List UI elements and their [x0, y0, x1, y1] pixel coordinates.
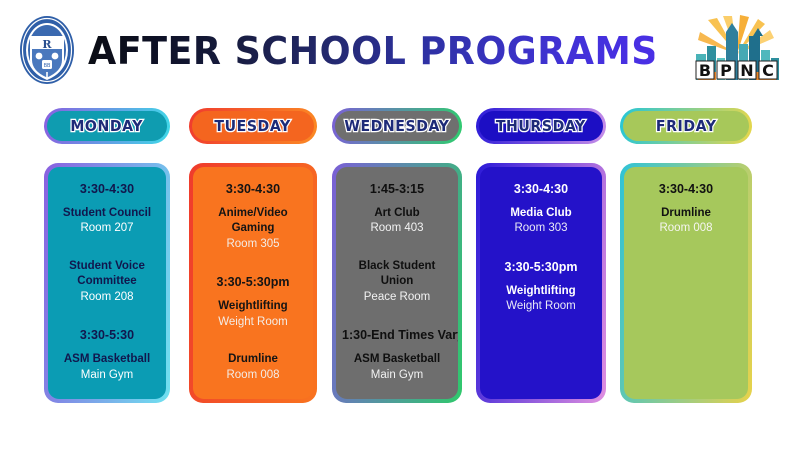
program-entry: Black Student UnionPeace Room: [342, 259, 452, 306]
program-room: Room 207: [54, 221, 160, 237]
program-room: Room 208: [54, 290, 160, 306]
program-time: 3:30-5:30pm: [199, 274, 307, 291]
day-card-fill-monday: 3:30-4:30Student CouncilRoom 207Student …: [48, 167, 166, 399]
program-name: Weightlifting: [486, 284, 596, 300]
day-header-wednesday: WEDNESDAY: [332, 108, 462, 144]
program-name: ASM Basketball: [342, 352, 452, 368]
day-header-monday: MONDAY: [44, 108, 170, 144]
program-entry: 1:30-End Times VaryASM BasketballMain Gy…: [342, 327, 452, 383]
program-name: ASM Basketball: [54, 352, 160, 368]
day-header-fill-tuesday: TUESDAY: [192, 111, 314, 141]
svg-text:R: R: [42, 38, 52, 51]
day-header-fill-friday: FRIDAY: [623, 111, 749, 141]
program-room: Weight Room: [199, 315, 307, 331]
program-room: Peace Room: [342, 290, 452, 306]
program-name: Drumline: [630, 206, 742, 222]
program-entry: 3:30-4:30Media ClubRoom 303: [486, 181, 596, 237]
day-card-friday: 3:30-4:30DrumlineRoom 008: [620, 163, 752, 403]
program-name: Anime/Video Gaming: [199, 206, 307, 237]
day-card-wednesday: 1:45-3:15Art ClubRoom 403Black Student U…: [332, 163, 462, 403]
day-header-fill-wednesday: WEDNESDAY: [335, 111, 459, 141]
program-time: 3:30-4:30: [630, 181, 742, 198]
program-name: Black Student Union: [342, 259, 452, 290]
svg-text:N: N: [740, 61, 753, 80]
day-card-fill-friday: 3:30-4:30DrumlineRoom 008: [624, 167, 748, 399]
day-header-friday: FRIDAY: [620, 108, 752, 144]
program-time: 1:30-End Times Vary: [342, 327, 452, 344]
program-entry: 3:30-4:30DrumlineRoom 008: [630, 181, 742, 237]
program-entry: 3:30-5:30pmWeightliftingWeight Room: [199, 274, 307, 330]
school-seal-icon: R BB: [18, 14, 76, 86]
svg-text:C: C: [762, 61, 774, 80]
day-header-thursday: THURSDAY: [476, 108, 606, 144]
program-entry: Student VoiceCommitteeRoom 208: [54, 259, 160, 306]
program-room: Room 305: [199, 237, 307, 253]
program-room: Room 008: [199, 368, 307, 384]
day-card-tuesday: 3:30-4:30Anime/Video GamingRoom 3053:30-…: [189, 163, 317, 403]
program-time: 3:30-5:30pm: [486, 259, 596, 276]
program-time: 3:30-4:30: [54, 181, 160, 198]
program-name: Student Council: [54, 206, 160, 222]
program-entry: 3:30-5:30pmWeightliftingWeight Room: [486, 259, 596, 315]
program-room: Room 303: [486, 221, 596, 237]
svg-text:B: B: [699, 61, 711, 80]
program-name: Drumline: [199, 352, 307, 368]
day-card-fill-wednesday: 1:45-3:15Art ClubRoom 403Black Student U…: [336, 167, 458, 399]
day-header-label-tuesday: TUESDAY: [215, 117, 291, 135]
day-card-thursday: 3:30-4:30Media ClubRoom 3033:30-5:30pmWe…: [476, 163, 606, 403]
bpnc-city-skyline-logo: B P N C: [690, 14, 784, 90]
program-name: Art Club: [342, 206, 452, 222]
day-header-label-monday: MONDAY: [71, 117, 144, 135]
day-card-fill-thursday: 3:30-4:30Media ClubRoom 3033:30-5:30pmWe…: [480, 167, 602, 399]
program-time: 3:30-4:30: [486, 181, 596, 198]
program-room: Weight Room: [486, 299, 596, 315]
program-time: 1:45-3:15: [342, 181, 452, 198]
page-header: R BB AFTER SCHOOL PROGRAMS 2025-2026: [0, 0, 800, 100]
program-entry: 3:30-5:30ASM BasketballMain Gym: [54, 327, 160, 383]
day-header-label-friday: FRIDAY: [656, 117, 717, 135]
program-time: 3:30-5:30: [54, 327, 160, 344]
day-header-label-thursday: THURSDAY: [496, 117, 586, 135]
day-header-fill-thursday: THURSDAY: [479, 111, 603, 141]
day-header-tuesday: TUESDAY: [189, 108, 317, 144]
day-header-label-wednesday: WEDNESDAY: [344, 117, 449, 135]
program-name: Weightlifting: [199, 299, 307, 315]
day-header-fill-monday: MONDAY: [47, 111, 167, 141]
page-title: AFTER SCHOOL PROGRAMS 2025-2026: [88, 20, 654, 82]
program-entry: DrumlineRoom 008: [199, 352, 307, 383]
day-card-fill-tuesday: 3:30-4:30Anime/Video GamingRoom 3053:30-…: [193, 167, 313, 399]
program-room: Main Gym: [54, 368, 160, 384]
day-card-monday: 3:30-4:30Student CouncilRoom 207Student …: [44, 163, 170, 403]
program-name: Student VoiceCommittee: [54, 259, 160, 290]
program-time: 3:30-4:30: [199, 181, 307, 198]
program-entry: 3:30-4:30Anime/Video GamingRoom 305: [199, 181, 307, 252]
program-room: Main Gym: [342, 368, 452, 384]
program-room: Room 403: [342, 221, 452, 237]
program-entry: 1:45-3:15Art ClubRoom 403: [342, 181, 452, 237]
program-room: Room 008: [630, 221, 742, 237]
program-name: Media Club: [486, 206, 596, 222]
program-entry: 3:30-4:30Student CouncilRoom 207: [54, 181, 160, 237]
svg-text:P: P: [720, 61, 732, 80]
svg-text:BB: BB: [44, 63, 51, 69]
